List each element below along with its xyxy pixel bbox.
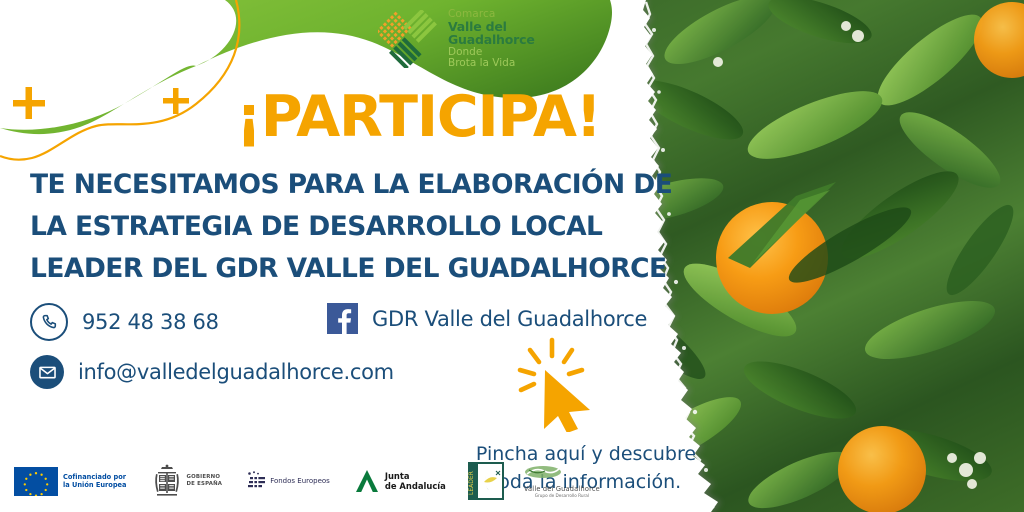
junta-andalucia-logo: Junta de Andalucía — [354, 468, 446, 494]
eu-line-2: la Unión Europea — [63, 481, 126, 489]
subtitle: TE NECESITAMOS PARA LA ELABORACIÓN DE LA… — [30, 164, 672, 290]
contact-facebook[interactable]: GDR Valle del Guadalhorce — [327, 303, 647, 334]
contact-phone[interactable]: 952 48 38 68 — [30, 303, 219, 341]
envelope-icon — [30, 355, 64, 389]
funding-logos-bar: Cofinanciado por la Unión Europea — [0, 458, 640, 504]
fondos-europeos-logo: Fondos Europeos — [246, 470, 330, 492]
gdr-line-2: Grupo de Desarrollo Rural — [524, 493, 600, 498]
subtitle-line-3: LEADER DEL GDR VALLE DEL GUADALHORCE — [30, 248, 672, 290]
brand-line-guadalhorce: Guadalhorce — [448, 33, 535, 46]
eu-flag-icon — [14, 467, 58, 496]
cursor-arrow — [544, 370, 590, 432]
eu-line-1: Cofinanciado por — [63, 473, 126, 481]
eu-cofinance-logo: Cofinanciado por la Unión Europea — [14, 467, 126, 496]
fondos-europeos-label: Fondos Europeos — [270, 477, 330, 485]
gobierno-line-2: DE ESPAÑA — [186, 481, 222, 488]
junta-andalucia-arch-icon — [354, 468, 380, 494]
guadalhorce-heart-logo-icon — [378, 10, 440, 68]
gobierno-line-1: GOBIERNO — [186, 474, 222, 481]
gdr-valle-logo-icon — [524, 464, 562, 480]
facebook-page-name: GDR Valle del Guadalhorce — [372, 307, 647, 331]
poster-canvas: Comarca Valle del Guadalhorce Donde Brot… — [0, 0, 1024, 512]
junta-line-2: de Andalucía — [385, 481, 446, 492]
fondos-europeos-icon — [246, 470, 266, 492]
email-address: info@valledelguadalhorce.com — [78, 360, 394, 384]
facebook-icon — [327, 303, 358, 334]
brand-logo: Comarca Valle del Guadalhorce Donde Brot… — [378, 9, 535, 69]
gdr-valle-logo: Valle del Guadalhorce Grupo de Desarroll… — [524, 464, 600, 498]
phone-icon — [30, 303, 68, 341]
page-title: ¡PARTICIPA! — [236, 84, 601, 150]
junta-line-1: Junta — [385, 471, 446, 482]
gobierno-espana-logo: GOBIERNO DE ESPAÑA — [152, 464, 222, 498]
brand-line-valle: Valle del — [448, 20, 535, 33]
spain-coat-of-arms-icon — [152, 464, 182, 498]
subtitle-line-1: TE NECESITAMOS PARA LA ELABORACIÓN DE — [30, 164, 672, 206]
contact-email[interactable]: info@valledelguadalhorce.com — [30, 355, 394, 389]
click-cursor-icon[interactable] — [512, 336, 598, 432]
orange-plus-right — [163, 88, 189, 114]
brand-line-brota: Brota la Vida — [448, 58, 535, 69]
subtitle-line-2: LA ESTRATEGIA DE DESARROLLO LOCAL — [30, 206, 672, 248]
phone-number: 952 48 38 68 — [82, 310, 219, 334]
leader-wordmark: LEADER — [468, 471, 475, 495]
gdr-line-1: Valle del Guadalhorce — [524, 485, 600, 493]
leader-logo-icon: LEADER — [468, 462, 504, 500]
